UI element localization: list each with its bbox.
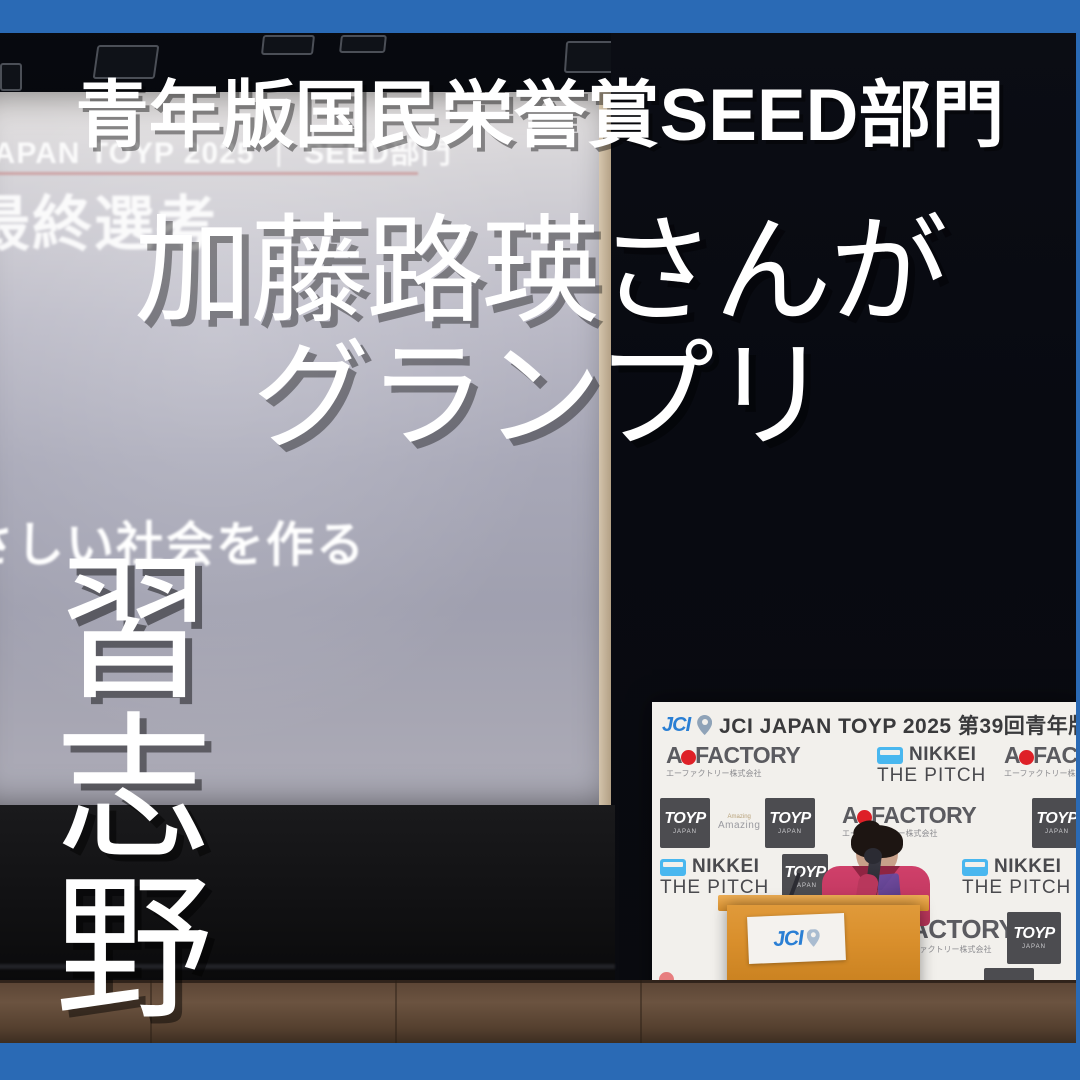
jci-logo-text: JCI	[662, 714, 690, 737]
toyp-sub: JAPAN	[1022, 944, 1046, 950]
afactory-subtext: エーファクトリー株式会社	[1004, 768, 1080, 779]
amazing-logo: Amazing Amazing	[718, 814, 760, 831]
afactory-name: FACTORY	[1033, 742, 1080, 768]
headline-line-1: 青年版国民栄誉賞SEED部門	[76, 56, 1005, 162]
nikkei-logo: NIKKEI THE PITCH	[877, 744, 986, 787]
afactory-logo: AFACTORY エーファクトリー株式会社	[666, 742, 800, 779]
nikkei-name: NIKKEI	[909, 744, 976, 766]
afactory-name: FACTORY	[695, 742, 800, 768]
afactory-logo: AFACTORY エーファクトリー株式会社	[1004, 742, 1080, 779]
afactory-red-dot	[1019, 750, 1034, 765]
toyp-word: TOYP	[664, 811, 705, 827]
nikkei-mark-icon	[877, 747, 903, 764]
afactory-initial: A	[1004, 742, 1020, 768]
nikkei-mark-icon	[962, 859, 988, 876]
toyp-word: TOYP	[784, 865, 825, 881]
vertical-location-label: 習志野	[42, 545, 195, 1025]
nikkei-logo: NIKKEI THE PITCH	[962, 856, 1071, 899]
afactory-red-dot	[681, 750, 696, 765]
bottom-accent-bar	[0, 1043, 1080, 1080]
nikkei-pitch: THE PITCH	[962, 877, 1071, 899]
toyp-word: TOYP	[769, 811, 810, 827]
top-accent-bar	[0, 0, 1080, 33]
headline-line-3: グランプリ	[252, 300, 828, 471]
podium-jci-plate: JCI	[747, 913, 846, 964]
nikkei-pitch: THE PITCH	[877, 765, 986, 787]
toyp-logo-tile: TOYP JAPAN	[660, 798, 710, 848]
toyp-word: TOYP	[1013, 926, 1054, 942]
nikkei-name: NIKKEI	[994, 856, 1061, 878]
afactory-initial: A	[842, 802, 858, 828]
social-post-canvas: JAPAN TOYP 2025 ｜ SEED部門 最終選考 さしい社会を作る J…	[0, 0, 1080, 1080]
afactory-subtext: エーファクトリー株式会社	[666, 768, 800, 779]
location-pin-icon	[806, 929, 820, 948]
nikkei-logo: NIKKEI THE PITCH	[660, 856, 769, 899]
nikkei-mark-icon	[660, 859, 686, 876]
toyp-word: TOYP	[1036, 811, 1077, 827]
toyp-sub: JAPAN	[673, 829, 697, 835]
afactory-name: FACTORY	[871, 802, 976, 828]
jci-logo-text: JCI	[773, 926, 804, 951]
toyp-sub: JAPAN	[1045, 829, 1069, 835]
afactory-initial: A	[666, 742, 682, 768]
toyp-logo-tile: TOYP JAPAN	[1032, 798, 1080, 848]
microphone-head	[864, 848, 882, 864]
toyp-sub: JAPAN	[778, 829, 802, 835]
location-pin-icon	[697, 715, 712, 735]
toyp-logo-tile: TOYP JAPAN	[1007, 912, 1061, 964]
right-accent-bar	[1076, 33, 1080, 1043]
toyp-logo-tile: TOYP JAPAN	[765, 798, 815, 848]
amazing-name: Amazing	[718, 820, 760, 831]
nikkei-name: NIKKEI	[692, 856, 759, 878]
